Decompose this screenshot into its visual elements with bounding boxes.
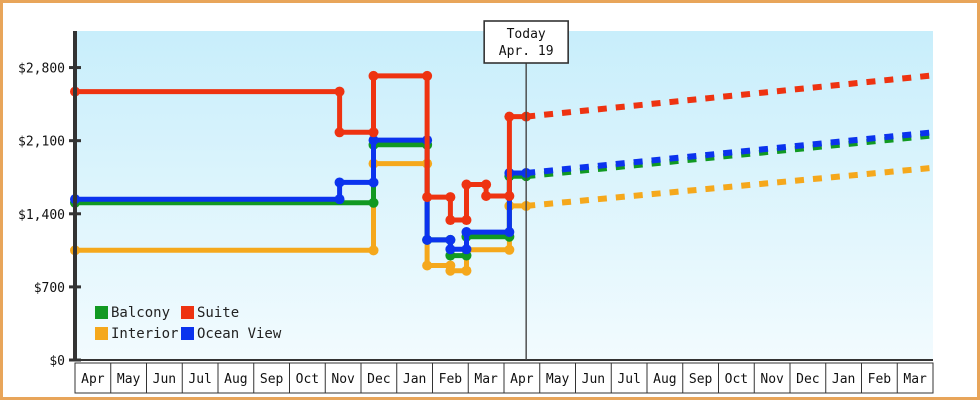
y-tick-label: $2,100 (18, 135, 65, 150)
legend-label-suite: Suite (197, 305, 239, 321)
x-tick-label-11: Mar (474, 372, 498, 387)
x-tick-label-5: Sep (260, 372, 284, 387)
legend-swatch-balcony (95, 306, 108, 319)
x-tick-label-3: Jul (188, 372, 211, 387)
data-point (422, 235, 432, 245)
x-tick-label-8: Dec (367, 372, 390, 387)
data-point (445, 215, 455, 225)
x-tick-label-0: Apr (81, 372, 105, 387)
x-tick-label-7: Nov (331, 372, 355, 387)
x-tick-label-16: Aug (653, 372, 676, 387)
x-tick-label-14: Jun (582, 372, 605, 387)
data-point (461, 266, 471, 276)
data-point (369, 127, 379, 137)
x-tick-label-1: May (117, 372, 141, 387)
data-point (335, 177, 345, 187)
data-point (445, 244, 455, 254)
data-point (335, 127, 345, 137)
data-point (369, 177, 379, 187)
legend-swatch-interior (95, 327, 108, 340)
data-point (369, 198, 379, 208)
x-tick-label-20: Dec (796, 372, 819, 387)
data-point (422, 260, 432, 270)
legend-label-balcony: Balcony (111, 305, 170, 321)
data-point (461, 180, 471, 190)
chart-frame: $0$700$1,400$2,100$2,800 AprMayJunJulAug… (0, 0, 980, 400)
legend-swatch-suite (181, 306, 194, 319)
data-point (422, 71, 432, 81)
y-tick-label: $1,400 (18, 208, 65, 223)
x-tick-label-4: Aug (224, 372, 247, 387)
today-label-line2: Apr. 19 (499, 44, 554, 59)
y-tick-label: $0 (49, 354, 65, 369)
y-axis: $0$700$1,400$2,100$2,800 (18, 62, 81, 369)
data-point (481, 191, 491, 201)
data-point (445, 266, 455, 276)
data-point (461, 227, 471, 237)
price-history-chart: $0$700$1,400$2,100$2,800 AprMayJunJulAug… (3, 3, 980, 403)
x-tick-label-13: May (546, 372, 570, 387)
x-tick-label-18: Oct (725, 372, 748, 387)
y-tick-label: $700 (34, 281, 65, 296)
x-tick-label-2: Jun (153, 372, 176, 387)
data-point (422, 192, 432, 202)
data-point (504, 112, 514, 122)
x-axis: AprMayJunJulAugSepOctNovDecJanFebMarAprM… (75, 360, 933, 393)
data-point (335, 87, 345, 97)
x-tick-label-17: Sep (689, 372, 713, 387)
data-point (445, 235, 455, 245)
data-point (369, 245, 379, 255)
x-tick-label-19: Nov (760, 372, 784, 387)
x-tick-label-6: Oct (296, 372, 319, 387)
data-point (461, 215, 471, 225)
data-point (369, 71, 379, 81)
data-point (335, 194, 345, 204)
x-tick-label-23: Mar (903, 372, 927, 387)
x-tick-label-15: Jul (617, 372, 640, 387)
today-label-line1: Today (507, 27, 546, 42)
x-tick-label-9: Jan (403, 372, 426, 387)
legend-label-ocean-view: Ocean View (197, 326, 282, 342)
x-tick-label-21: Jan (832, 372, 855, 387)
x-tick-label-12: Apr (510, 372, 534, 387)
legend-swatch-ocean-view (181, 327, 194, 340)
data-point (504, 191, 514, 201)
data-point (481, 180, 491, 190)
y-tick-label: $2,800 (18, 62, 65, 77)
data-point (445, 192, 455, 202)
data-point (461, 244, 471, 254)
data-point (504, 245, 514, 255)
x-tick-label-10: Feb (439, 372, 463, 387)
data-point (504, 227, 514, 237)
legend-label-interior: Interior (111, 326, 178, 342)
x-tick-label-22: Feb (868, 372, 892, 387)
